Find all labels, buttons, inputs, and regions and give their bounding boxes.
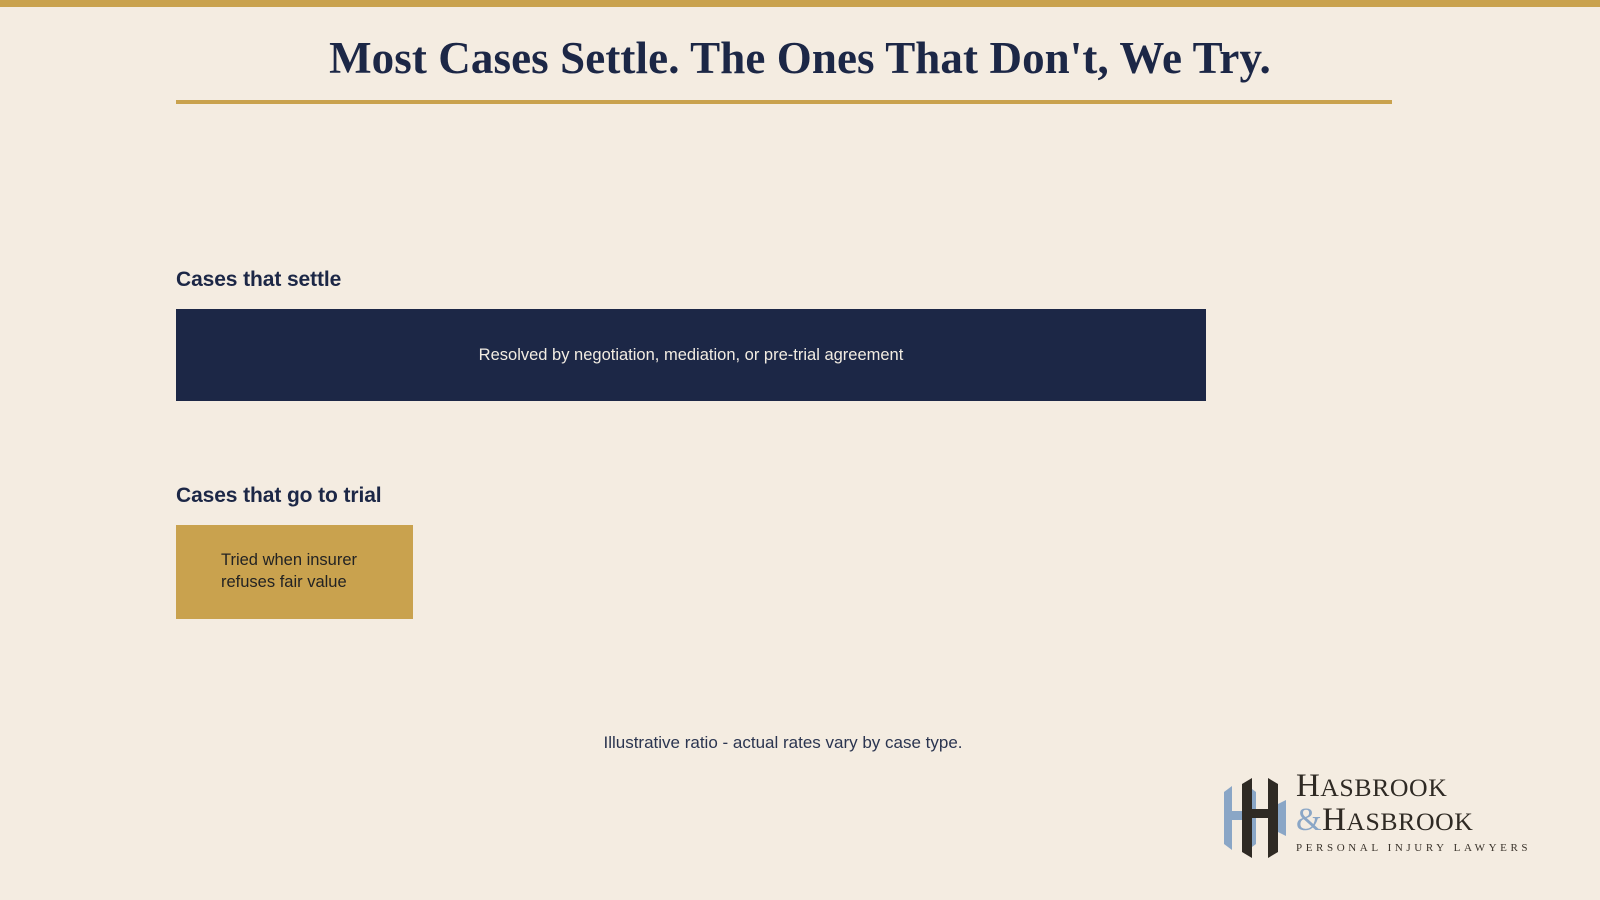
logo-line-2: &HASBROOK	[1296, 804, 1542, 836]
logo-wordmark: HASBROOK &HASBROOK PERSONAL INJURY LAWYE…	[1296, 770, 1542, 854]
logo-line-2-text: HASBROOK	[1322, 802, 1473, 838]
bar-label-cases-that-settle: Cases that settle	[176, 268, 1206, 292]
bar-group-cases-that-settle: Cases that settle Resolved by negotiatio…	[176, 268, 1206, 401]
bar-group-cases-that-go-to-trial: Cases that go to trial Tried when insure…	[176, 484, 413, 619]
logo-tagline: PERSONAL INJURY LAWYERS	[1296, 842, 1542, 854]
bar-cases-that-go-to-trial: Tried when insurer refuses fair value	[176, 525, 413, 619]
firm-logo: HASBROOK &HASBROOK PERSONAL INJURY LAWYE…	[1222, 770, 1542, 868]
bar-text-cases-that-go-to-trial: Tried when insurer refuses fair value	[221, 550, 403, 594]
chart-footnote: Illustrative ratio - actual rates vary b…	[0, 733, 1566, 753]
double-h-monogram-icon	[1222, 776, 1288, 860]
bar-text-cases-that-settle: Resolved by negotiation, mediation, or p…	[479, 344, 904, 366]
settlement-ratio-bar-chart: Cases that settle Resolved by negotiatio…	[0, 0, 1600, 900]
logo-line-1: HASBROOK	[1296, 770, 1542, 802]
bar-label-cases-that-go-to-trial: Cases that go to trial	[176, 484, 413, 508]
bar-cases-that-settle: Resolved by negotiation, mediation, or p…	[176, 309, 1206, 401]
logo-ampersand: &	[1296, 802, 1322, 838]
